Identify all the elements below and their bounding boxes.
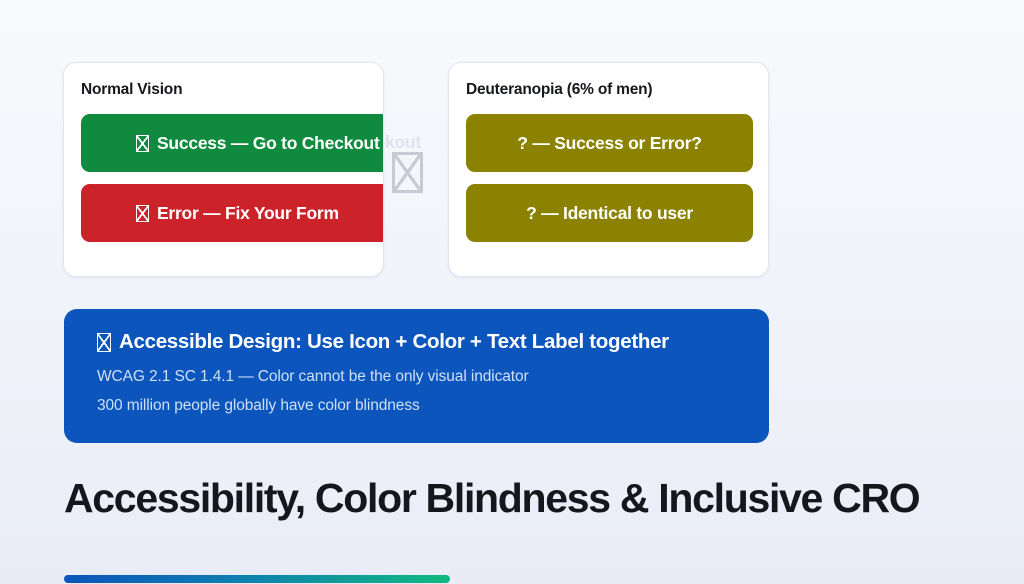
page-title: Accessibility, Color Blindness & Inclusi…: [64, 475, 1024, 522]
deuteranopia-error-button-label: ? — Identical to user: [526, 203, 693, 224]
slide-canvas: kout Normal Vision Success — Go to Check…: [0, 0, 1024, 584]
success-button-label: Success — Go to Checkout: [157, 133, 380, 154]
missing-glyph-box-icon: [136, 205, 149, 222]
success-button[interactable]: Success — Go to Checkout: [81, 114, 384, 172]
accent-divider: [64, 575, 450, 583]
accessible-design-banner: Accessible Design: Use Icon + Color + Te…: [64, 309, 769, 443]
error-button-label: Error — Fix Your Form: [157, 203, 339, 224]
banner-line-stat: 300 million people globally have color b…: [97, 397, 743, 415]
banner-line-wcag: WCAG 2.1 SC 1.4.1 — Color cannot be the …: [97, 368, 743, 386]
vision-card-title-normal: Normal Vision: [81, 81, 366, 99]
deuteranopia-success-button-label: ? — Success or Error?: [517, 133, 701, 154]
deuteranopia-success-button[interactable]: ? — Success or Error?: [466, 114, 753, 172]
vision-card-title-deuteranopia: Deuteranopia (6% of men): [466, 81, 751, 99]
vision-card-normal: Normal Vision Success — Go to Checkout E…: [63, 62, 384, 277]
missing-glyph-box-icon: [136, 135, 149, 152]
error-button[interactable]: Error — Fix Your Form: [81, 184, 384, 242]
vision-card-deuteranopia: Deuteranopia (6% of men) ? — Success or …: [448, 62, 769, 277]
banner-title-text: Accessible Design: Use Icon + Color + Te…: [119, 330, 669, 354]
banner-title: Accessible Design: Use Icon + Color + Te…: [97, 330, 743, 354]
missing-glyph-box-icon: [97, 333, 111, 352]
separator-missing-glyph-box-icon: [392, 152, 423, 193]
deuteranopia-error-button[interactable]: ? — Identical to user: [466, 184, 753, 242]
